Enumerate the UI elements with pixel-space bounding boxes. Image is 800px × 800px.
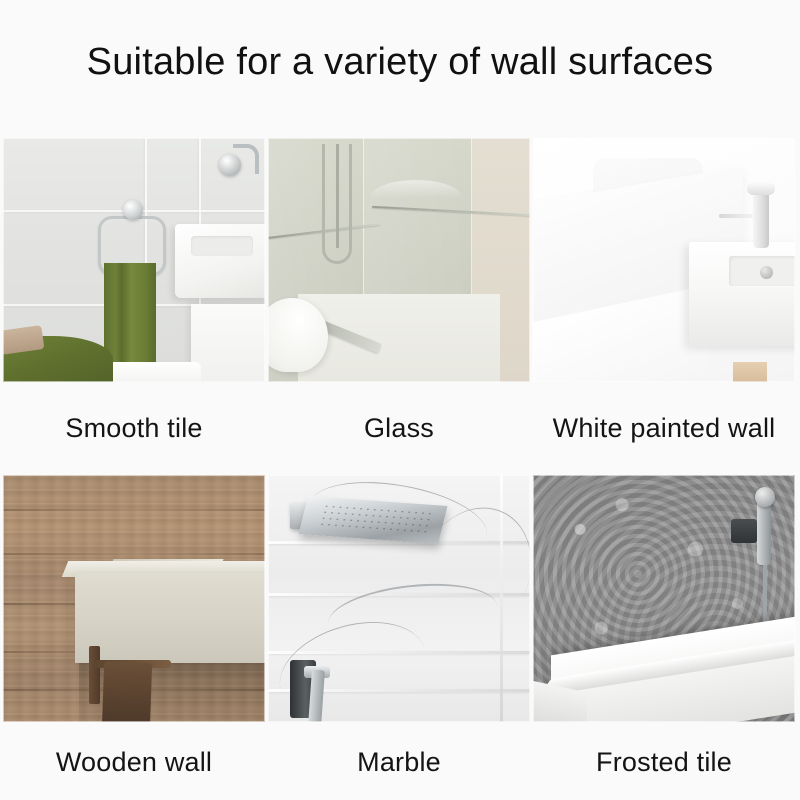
surface-label-marble: Marble [268, 722, 530, 800]
surface-photo-frosted-tile [533, 475, 795, 722]
surface-photo-smooth-tile [3, 138, 265, 382]
surface-card-wooden-wall[interactable]: Wooden wall [3, 475, 265, 800]
shower-floor-shape [298, 294, 500, 382]
faucet-head-shape [747, 182, 775, 195]
washbasin-shape [175, 224, 265, 298]
page-title: Suitable for a variety of wall surfaces [0, 42, 800, 84]
surface-card-marble[interactable]: Marble [268, 475, 530, 800]
surface-label-frosted-tile: Frosted tile [533, 722, 795, 800]
faucet-plate-shape [219, 154, 241, 176]
towel-ring-mount-shape [123, 200, 143, 220]
surface-label-smooth-tile: Smooth tile [3, 382, 265, 475]
sprayer-bracket-shape [755, 487, 775, 507]
shower-hose-line-shape [336, 144, 339, 248]
surface-card-glass[interactable]: Glass [268, 138, 530, 475]
surface-label-glass: Glass [268, 382, 530, 475]
surface-photo-glass [268, 138, 530, 382]
surface-photo-marble [268, 475, 530, 722]
surface-label-wooden-wall: Wooden wall [3, 722, 265, 800]
vanity-shape [75, 573, 265, 663]
surface-card-frosted-tile[interactable]: Frosted tile [533, 475, 795, 800]
sprayer-handle-shape [731, 519, 757, 543]
surface-card-smooth-tile[interactable]: Smooth tile [3, 138, 265, 475]
surface-gallery-grid: Smooth tile Glass [3, 138, 797, 800]
hanging-towel-shape [102, 661, 152, 722]
surface-photo-white-painted-wall [533, 138, 795, 382]
surface-card-white-painted-wall[interactable]: White painted wall [533, 138, 795, 475]
faucet-spout-shape [719, 214, 753, 218]
wood-floor-shape [733, 362, 767, 382]
towel-bar-post-shape [89, 646, 100, 704]
surface-photo-wooden-wall [3, 475, 265, 722]
faucet-body-shape [753, 190, 769, 248]
surface-label-white-painted-wall: White painted wall [533, 382, 795, 475]
basin-drain-shape [760, 266, 773, 279]
basin-shape [689, 242, 795, 346]
cabinet-shape [191, 304, 265, 382]
sprayer-body-shape [757, 497, 771, 565]
